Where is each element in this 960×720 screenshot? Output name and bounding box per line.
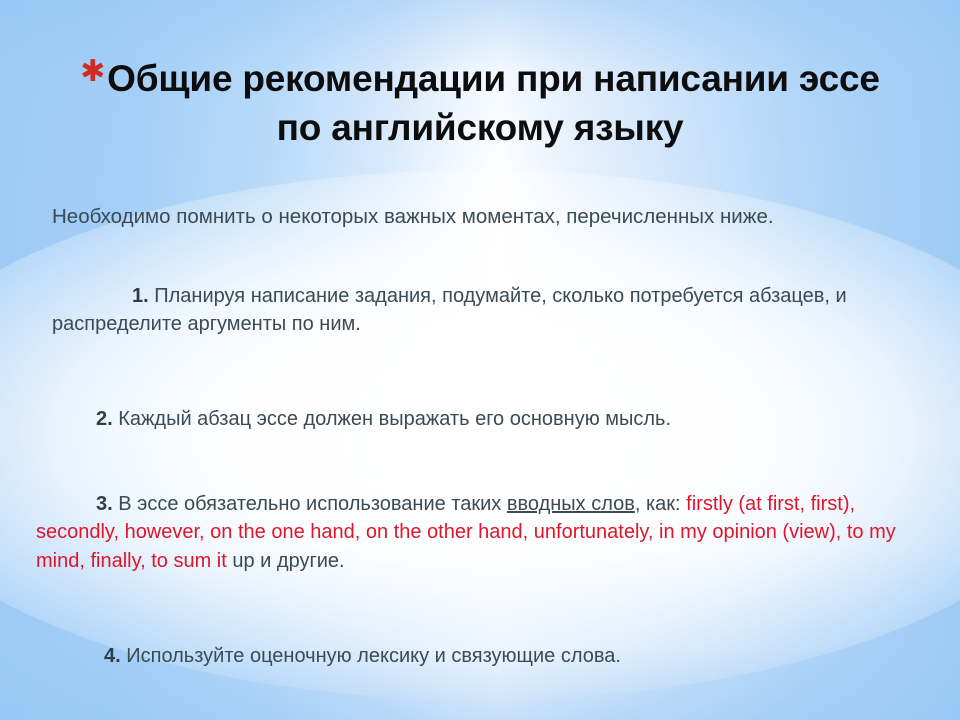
list-item-3-tail-text: up и другие. [227,550,345,572]
list-item-3-connector-text: , как: [635,493,686,515]
slide-canvas: ✱Общие рекомендации при написании эссе п… [0,0,960,720]
asterisk-bullet-icon: ✱ [80,55,105,88]
list-item-4-text: Используйте оценочную лексику и связующи… [121,645,621,667]
list-item-4-number: 4. [104,645,121,667]
list-item-4: 4. Используйте оценочную лексику и связу… [52,642,936,670]
list-item-3-underlined-term: вводных слов [507,493,635,515]
intro-paragraph: Необходимо помнить о некоторых важных мо… [52,203,932,231]
list-item-3: 3. В эссе обязательно использование таки… [36,490,936,575]
list-item-3-number: 3. [96,493,113,515]
slide-title: ✱Общие рекомендации при написании эссе п… [50,52,910,153]
title-text-line-2: по английскому языку [50,104,910,153]
list-item-3-lead-text: В эссе обязательно использование таких [113,493,507,515]
list-item-2-number: 2. [96,408,113,430]
slide-content: ✱Общие рекомендации при написании эссе п… [0,0,960,720]
list-item-2-text: Каждый абзац эссе должен выражать его ос… [113,408,671,430]
list-item-1: 1. Планируя написание задания, подумайте… [52,282,936,339]
list-item-2: 2. Каждый абзац эссе должен выражать его… [52,405,936,433]
title-line-1: ✱Общие рекомендации при написании эссе [50,52,910,104]
list-item-1-text: Планируя написание задания, подумайте, с… [52,285,847,335]
list-item-1-number: 1. [132,285,149,307]
title-text-line-1: Общие рекомендации при написании эссе [107,58,880,99]
